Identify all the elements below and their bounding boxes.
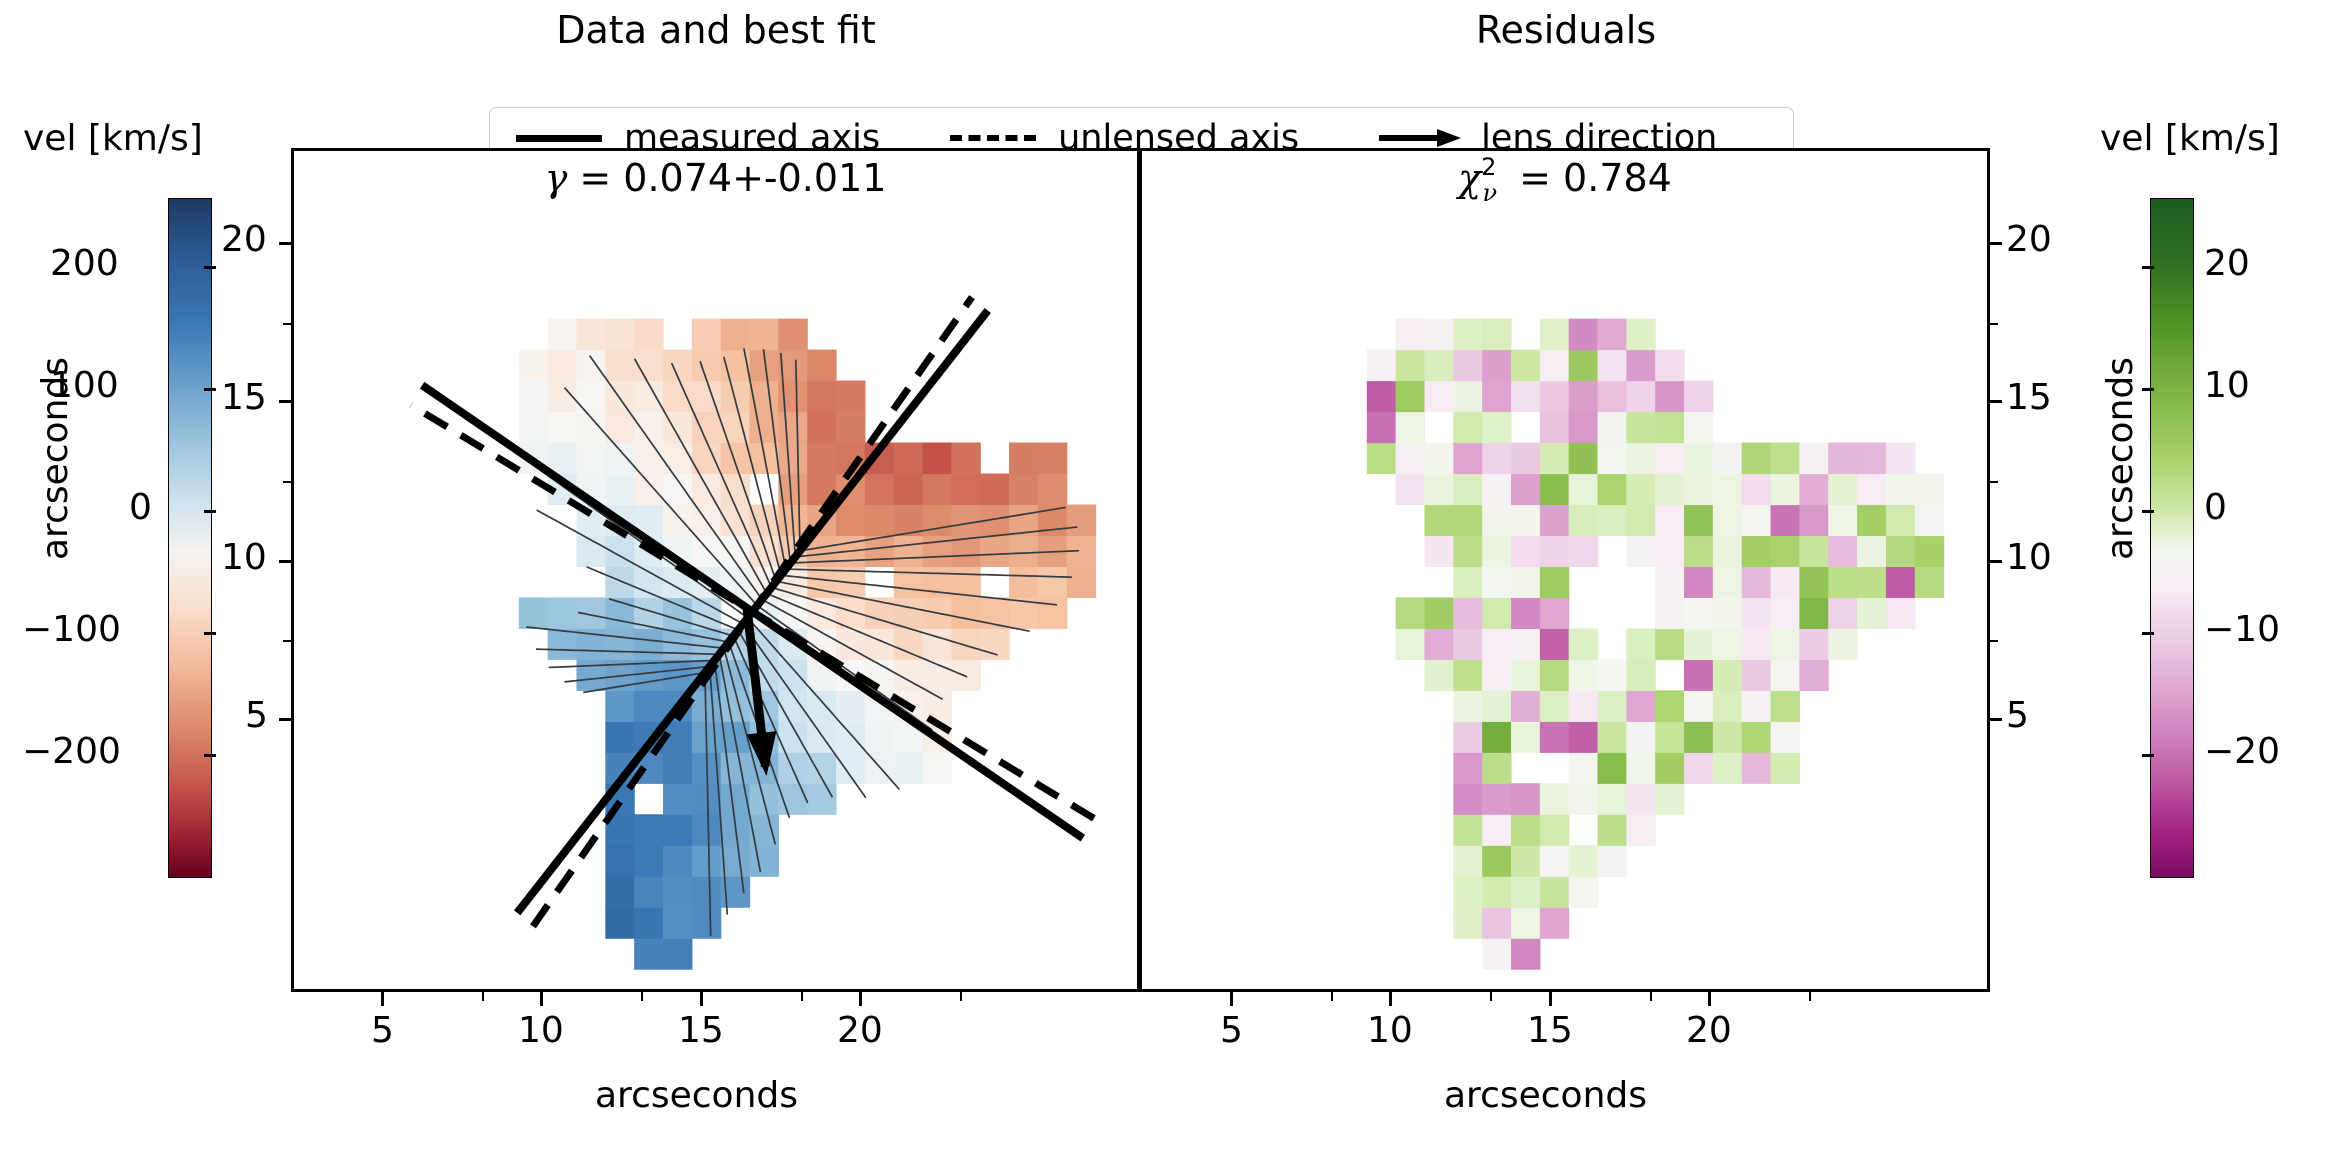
residual-cell — [1453, 876, 1482, 908]
residual-cell — [1598, 381, 1627, 413]
heatmap-cell — [750, 319, 779, 351]
residual-cell — [1424, 319, 1453, 351]
heatmap-cell — [894, 566, 923, 598]
residual-cell — [1799, 535, 1828, 567]
left-colorbar — [168, 198, 212, 878]
chi2-annotation: χ2ν = 0.784 — [1140, 156, 1990, 200]
residual-cell — [1655, 473, 1684, 505]
residual-cell — [1453, 597, 1482, 629]
residual-cell — [1540, 319, 1569, 351]
left-xtick — [859, 992, 862, 1006]
residual-cell — [1511, 721, 1540, 753]
right-colorbar-ticklabel: 0 — [2204, 487, 2227, 528]
left-xtick-label: 5 — [371, 1010, 394, 1051]
residual-cell — [1799, 473, 1828, 505]
heatmap-cell — [692, 319, 721, 351]
heatmap-cell — [663, 473, 692, 505]
right-colorbar — [2150, 198, 2194, 878]
residual-cell — [1540, 659, 1569, 691]
residual-cell — [1482, 690, 1511, 722]
heatmap-cell — [951, 597, 980, 629]
residual-cell — [1626, 783, 1655, 815]
right-colorbar-ticklabel: −10 — [2204, 609, 2280, 650]
residual-cell — [1598, 659, 1627, 691]
right-ytick — [1990, 400, 2002, 403]
residual-cell — [1655, 350, 1684, 382]
residual-cell — [1396, 381, 1425, 413]
heatmap-cell — [519, 412, 548, 444]
residual-cell — [1482, 535, 1511, 567]
left-yaxis-label: arcseconds — [35, 357, 76, 560]
heatmap-cell — [923, 752, 952, 784]
residual-cell — [1857, 443, 1886, 475]
residual-cell — [1886, 473, 1915, 505]
residual-cell — [1511, 381, 1540, 413]
residual-cell — [1453, 628, 1482, 660]
residual-cell — [1684, 473, 1713, 505]
residual-cell — [1540, 628, 1569, 660]
residual-cell — [1540, 876, 1569, 908]
residual-cell — [1482, 504, 1511, 536]
residual-cell — [1453, 845, 1482, 877]
residual-cell — [1886, 443, 1915, 475]
residual-cell — [1771, 628, 1800, 660]
residual-cell — [1569, 752, 1598, 784]
residual-cell — [1598, 350, 1627, 382]
heatmap-cell — [663, 845, 692, 877]
heatmap-cell — [663, 783, 692, 815]
residual-cell — [1482, 659, 1511, 691]
residual-cell — [1742, 443, 1771, 475]
left-colorbar-ticklabel: −100 — [22, 609, 121, 650]
right-xtick — [1389, 992, 1392, 1006]
heatmap-cell — [605, 845, 634, 877]
residual-cell — [1626, 535, 1655, 567]
residual-cell — [1569, 473, 1598, 505]
heatmap-cell — [951, 659, 980, 691]
residual-cell — [1453, 907, 1482, 939]
left-panel-title: Data and best fit — [516, 8, 916, 52]
data-and-best-fit-panel[interactable] — [291, 148, 1140, 992]
residual-cell — [1857, 504, 1886, 536]
left-colorbar-tick — [204, 388, 216, 391]
heatmap-cell — [721, 752, 750, 784]
residual-cell — [1569, 783, 1598, 815]
residual-cell — [1511, 783, 1540, 815]
residual-cell — [1540, 504, 1569, 536]
heatmap-cell — [923, 443, 952, 475]
heatmap-cell — [605, 907, 634, 939]
residual-cell — [1598, 473, 1627, 505]
heatmap-cell — [923, 504, 952, 536]
heatmap-cell — [807, 783, 836, 815]
right-colorbar-tick — [2142, 754, 2154, 757]
residual-cell — [1396, 412, 1425, 444]
heatmap-cell — [894, 535, 923, 567]
residual-cell — [1511, 876, 1540, 908]
residual-cell — [1771, 752, 1800, 784]
residual-cell — [1655, 721, 1684, 753]
left-xtick-minor — [641, 992, 643, 1001]
residual-cell — [1655, 412, 1684, 444]
residual-cell — [1742, 628, 1771, 660]
residual-cell — [1396, 350, 1425, 382]
residual-cell — [1857, 535, 1886, 567]
residual-cell — [1655, 690, 1684, 722]
residual-cell — [1453, 350, 1482, 382]
residual-cell — [1828, 597, 1857, 629]
right-ytick-label: 5 — [2006, 695, 2029, 736]
heatmap-cell — [778, 659, 807, 691]
residual-cell — [1424, 535, 1453, 567]
right-ytick — [1990, 718, 2002, 721]
residual-cell — [1598, 783, 1627, 815]
heatmap-cell — [1067, 504, 1096, 536]
residual-cell — [1915, 473, 1944, 505]
gamma-annotation: γ = 0.074+-0.011 — [291, 156, 1140, 200]
left-colorbar-ticklabel: −200 — [22, 731, 121, 772]
heatmap-cell — [750, 381, 779, 413]
residual-cell — [1511, 845, 1540, 877]
residual-cell — [1886, 535, 1915, 567]
residual-cell — [1569, 628, 1598, 660]
residual-cell — [1626, 381, 1655, 413]
residual-cell — [1857, 473, 1886, 505]
heatmap-cell — [923, 473, 952, 505]
residual-cell — [1626, 473, 1655, 505]
residual-cell — [1540, 845, 1569, 877]
right-ytick-label: 10 — [2006, 537, 2052, 578]
heatmap-cell — [721, 381, 750, 413]
heatmap-cell — [980, 535, 1009, 567]
residual-cell — [1540, 350, 1569, 382]
left-ytick-label: 10 — [221, 537, 267, 578]
right-ytick-label: 20 — [2006, 219, 2052, 260]
residual-cell — [1886, 597, 1915, 629]
heatmap-cell — [663, 597, 692, 629]
heatmap-cell — [836, 690, 865, 722]
heatmap-cell — [1009, 566, 1038, 598]
left-xtick — [540, 992, 543, 1006]
right-xtick-label: 10 — [1367, 1010, 1413, 1051]
left-colorbar-ticklabel: 200 — [50, 243, 119, 284]
residual-cell — [1540, 783, 1569, 815]
heatmap-cell — [1038, 566, 1067, 598]
residual-cell — [1482, 443, 1511, 475]
residual-cell — [1569, 412, 1598, 444]
heatmap-cell — [634, 876, 663, 908]
residual-cell — [1655, 535, 1684, 567]
heatmap-cell — [634, 907, 663, 939]
heatmap-cell — [663, 752, 692, 784]
residual-cell — [1857, 566, 1886, 598]
residual-cell — [1626, 752, 1655, 784]
heatmap-cell — [519, 350, 548, 382]
residual-cell — [1886, 504, 1915, 536]
residual-cell — [1511, 566, 1540, 598]
residual-cell — [1771, 504, 1800, 536]
figure-canvas: Data and best fit Residuals measured axi… — [0, 0, 2338, 1151]
residual-cell — [1626, 814, 1655, 846]
residual-cell — [1453, 504, 1482, 536]
residual-cell — [1771, 443, 1800, 475]
left-xtick-minor — [801, 992, 803, 1001]
right-xtick-label: 15 — [1527, 1010, 1573, 1051]
heatmap-cell — [1067, 566, 1096, 598]
residual-cell — [1540, 907, 1569, 939]
residual-cell — [1713, 690, 1742, 722]
left-ytick-label: 20 — [221, 219, 267, 260]
residual-cell — [1626, 690, 1655, 722]
residual-cell — [1684, 628, 1713, 660]
residual-cell — [1511, 628, 1540, 660]
heatmap-cell — [721, 783, 750, 815]
heatmap-cell — [576, 319, 605, 351]
residual-cell — [1540, 690, 1569, 722]
right-ytick-label: 15 — [2006, 377, 2052, 418]
heatmap-cell — [663, 938, 692, 970]
left-xtick — [381, 992, 384, 1006]
chi2-subscript: ν — [1482, 179, 1497, 207]
heatmap-cell — [663, 504, 692, 536]
residual-cell — [1684, 659, 1713, 691]
left-ytick — [279, 718, 291, 721]
residual-cell — [1626, 504, 1655, 536]
right-panel-title: Residuals — [1416, 8, 1716, 52]
heatmap-cell — [576, 659, 605, 691]
residual-cell — [1511, 443, 1540, 475]
left-xtick-label: 15 — [678, 1010, 724, 1051]
residual-cell — [1367, 381, 1396, 413]
residual-cell — [1713, 597, 1742, 629]
heatmap-cell — [894, 752, 923, 784]
residual-cell — [1626, 659, 1655, 691]
left-ytick-label: 5 — [245, 695, 268, 736]
residual-cell — [1482, 938, 1511, 970]
heatmap-cell — [663, 907, 692, 939]
heatmap-cell — [692, 473, 721, 505]
heatmap-cell — [1009, 443, 1038, 475]
right-xtick-label: 20 — [1686, 1010, 1732, 1051]
right-xtick — [1549, 992, 1552, 1006]
residual-cell — [1540, 597, 1569, 629]
heatmap-cell — [692, 535, 721, 567]
left-xtick-minor — [960, 992, 962, 1001]
residual-cell — [1771, 597, 1800, 629]
heatmap-cell — [807, 350, 836, 382]
heatmap-cell — [721, 443, 750, 475]
left-xtick-label: 20 — [837, 1010, 883, 1051]
residual-cell — [1742, 473, 1771, 505]
residual-cell — [1482, 381, 1511, 413]
heatmap-cell — [692, 876, 721, 908]
heatmap-cell — [836, 721, 865, 753]
residual-cell — [1453, 535, 1482, 567]
residual-cell — [1742, 690, 1771, 722]
residual-cell — [1511, 473, 1540, 505]
residual-cell — [1396, 473, 1425, 505]
right-ytick-minor — [1990, 640, 1998, 642]
residual-cell — [1713, 535, 1742, 567]
residual-cell — [1569, 690, 1598, 722]
residual-cell — [1771, 690, 1800, 722]
right-ytick-minor — [1990, 323, 1998, 325]
residual-cell — [1598, 752, 1627, 784]
residual-cell — [1367, 412, 1396, 444]
residual-cell — [1453, 783, 1482, 815]
right-xtick — [1708, 992, 1711, 1006]
residual-cell — [1453, 381, 1482, 413]
residual-cell — [1482, 721, 1511, 753]
residual-cell — [1453, 566, 1482, 598]
residual-cell — [1424, 473, 1453, 505]
left-ytick — [279, 242, 291, 245]
residual-cell — [1828, 628, 1857, 660]
residual-cell — [1655, 381, 1684, 413]
residual-cell — [1396, 319, 1425, 351]
heatmap-cell — [951, 443, 980, 475]
right-xaxis-label: arcseconds — [1444, 1075, 1647, 1116]
residual-cell — [1886, 566, 1915, 598]
residual-cell — [1915, 535, 1944, 567]
residual-cell — [1626, 628, 1655, 660]
left-xtick — [700, 992, 703, 1006]
heatmap-cell — [807, 690, 836, 722]
residual-cell — [1482, 412, 1511, 444]
heatmap-cell — [548, 628, 577, 660]
right-ytick-minor — [1990, 481, 1998, 483]
residual-cell — [1453, 752, 1482, 784]
residual-cell — [1742, 659, 1771, 691]
heatmap-cell — [605, 473, 634, 505]
left-xtick-label: 10 — [518, 1010, 564, 1051]
residual-cell — [1828, 504, 1857, 536]
residual-cell — [1713, 721, 1742, 753]
residual-cell — [1713, 628, 1742, 660]
residuals-panel[interactable] — [1140, 148, 1990, 992]
heatmap-cell — [692, 350, 721, 382]
heatmap-cell — [548, 412, 577, 444]
left-colorbar-tick — [204, 632, 216, 635]
heatmap-cell — [980, 473, 1009, 505]
heatmap-cell — [865, 473, 894, 505]
residual-cell — [1424, 628, 1453, 660]
heatmap-cell — [576, 350, 605, 382]
heatmap-cell — [807, 412, 836, 444]
heatmap-cell — [634, 690, 663, 722]
right-xtick-minor — [1331, 992, 1333, 1001]
residual-cell — [1713, 752, 1742, 784]
residual-cell — [1626, 350, 1655, 382]
heatmap-cell — [576, 443, 605, 475]
left-xtick-minor — [482, 992, 484, 1001]
residual-cell — [1713, 504, 1742, 536]
residual-cell — [1626, 319, 1655, 351]
dashed-line-icon — [950, 135, 1036, 141]
left-colorbar-ticklabel: 0 — [129, 487, 152, 528]
heatmap-cell — [807, 381, 836, 413]
heatmap-cell — [605, 319, 634, 351]
residual-cell — [1799, 566, 1828, 598]
residual-cell — [1713, 566, 1742, 598]
residual-cell — [1424, 504, 1453, 536]
residual-cell — [1482, 566, 1511, 598]
heatmap-cell — [894, 473, 923, 505]
residual-cell — [1453, 443, 1482, 475]
residual-cell — [1771, 659, 1800, 691]
velocity-field-heatmap — [294, 151, 1137, 989]
residual-cell — [1396, 597, 1425, 629]
residual-cell — [1655, 566, 1684, 598]
residual-cell — [1857, 597, 1886, 629]
residual-cell — [1828, 473, 1857, 505]
residual-cell — [1684, 535, 1713, 567]
left-colorbar-tick — [204, 510, 216, 513]
residual-cell — [1482, 628, 1511, 660]
heatmap-cell — [634, 845, 663, 877]
residual-cell — [1540, 381, 1569, 413]
heatmap-cell — [605, 721, 634, 753]
residual-cell — [1742, 721, 1771, 753]
residual-cell — [1569, 350, 1598, 382]
heatmap-cell — [750, 845, 779, 877]
residual-cell — [1915, 566, 1944, 598]
heatmap-cell — [778, 319, 807, 351]
residual-cell — [1655, 752, 1684, 784]
heatmap-cell — [634, 443, 663, 475]
residual-cell — [1453, 690, 1482, 722]
heatmap-cell — [894, 597, 923, 629]
residual-cell — [1424, 597, 1453, 629]
gamma-value: = 0.074+-0.011 — [579, 156, 886, 200]
right-colorbar-tick — [2142, 632, 2154, 635]
heatmap-cell — [692, 814, 721, 846]
heatmap-cell — [721, 319, 750, 351]
heatmap-cell — [894, 628, 923, 660]
residual-cell — [1799, 504, 1828, 536]
residual-cell — [1771, 473, 1800, 505]
residual-cell — [1482, 473, 1511, 505]
right-colorbar-tick — [2142, 388, 2154, 391]
residual-cell — [1713, 443, 1742, 475]
heatmap-cell — [634, 628, 663, 660]
right-xtick-minor — [1650, 992, 1652, 1001]
residual-cell — [1569, 504, 1598, 536]
right-xtick — [1230, 992, 1233, 1006]
heatmap-cell — [548, 597, 577, 629]
residual-cell — [1482, 350, 1511, 382]
residual-cell — [1771, 721, 1800, 753]
heatmap-cell — [634, 938, 663, 970]
right-ytick — [1990, 560, 2002, 563]
residual-cell — [1511, 597, 1540, 629]
residual-cell — [1453, 473, 1482, 505]
arrow-right-icon — [1377, 126, 1463, 150]
residual-cell — [1771, 535, 1800, 567]
residual-cell — [1482, 814, 1511, 846]
heatmap-cell — [634, 473, 663, 505]
residual-cell — [1771, 566, 1800, 598]
heatmap-cell — [605, 628, 634, 660]
residual-cell — [1598, 814, 1627, 846]
residual-cell — [1655, 783, 1684, 815]
residual-cell — [1598, 412, 1627, 444]
residual-cell — [1742, 597, 1771, 629]
residual-cell — [1482, 752, 1511, 784]
heatmap-cell — [605, 690, 634, 722]
heatmap-cell — [778, 412, 807, 444]
residual-cell — [1569, 381, 1598, 413]
